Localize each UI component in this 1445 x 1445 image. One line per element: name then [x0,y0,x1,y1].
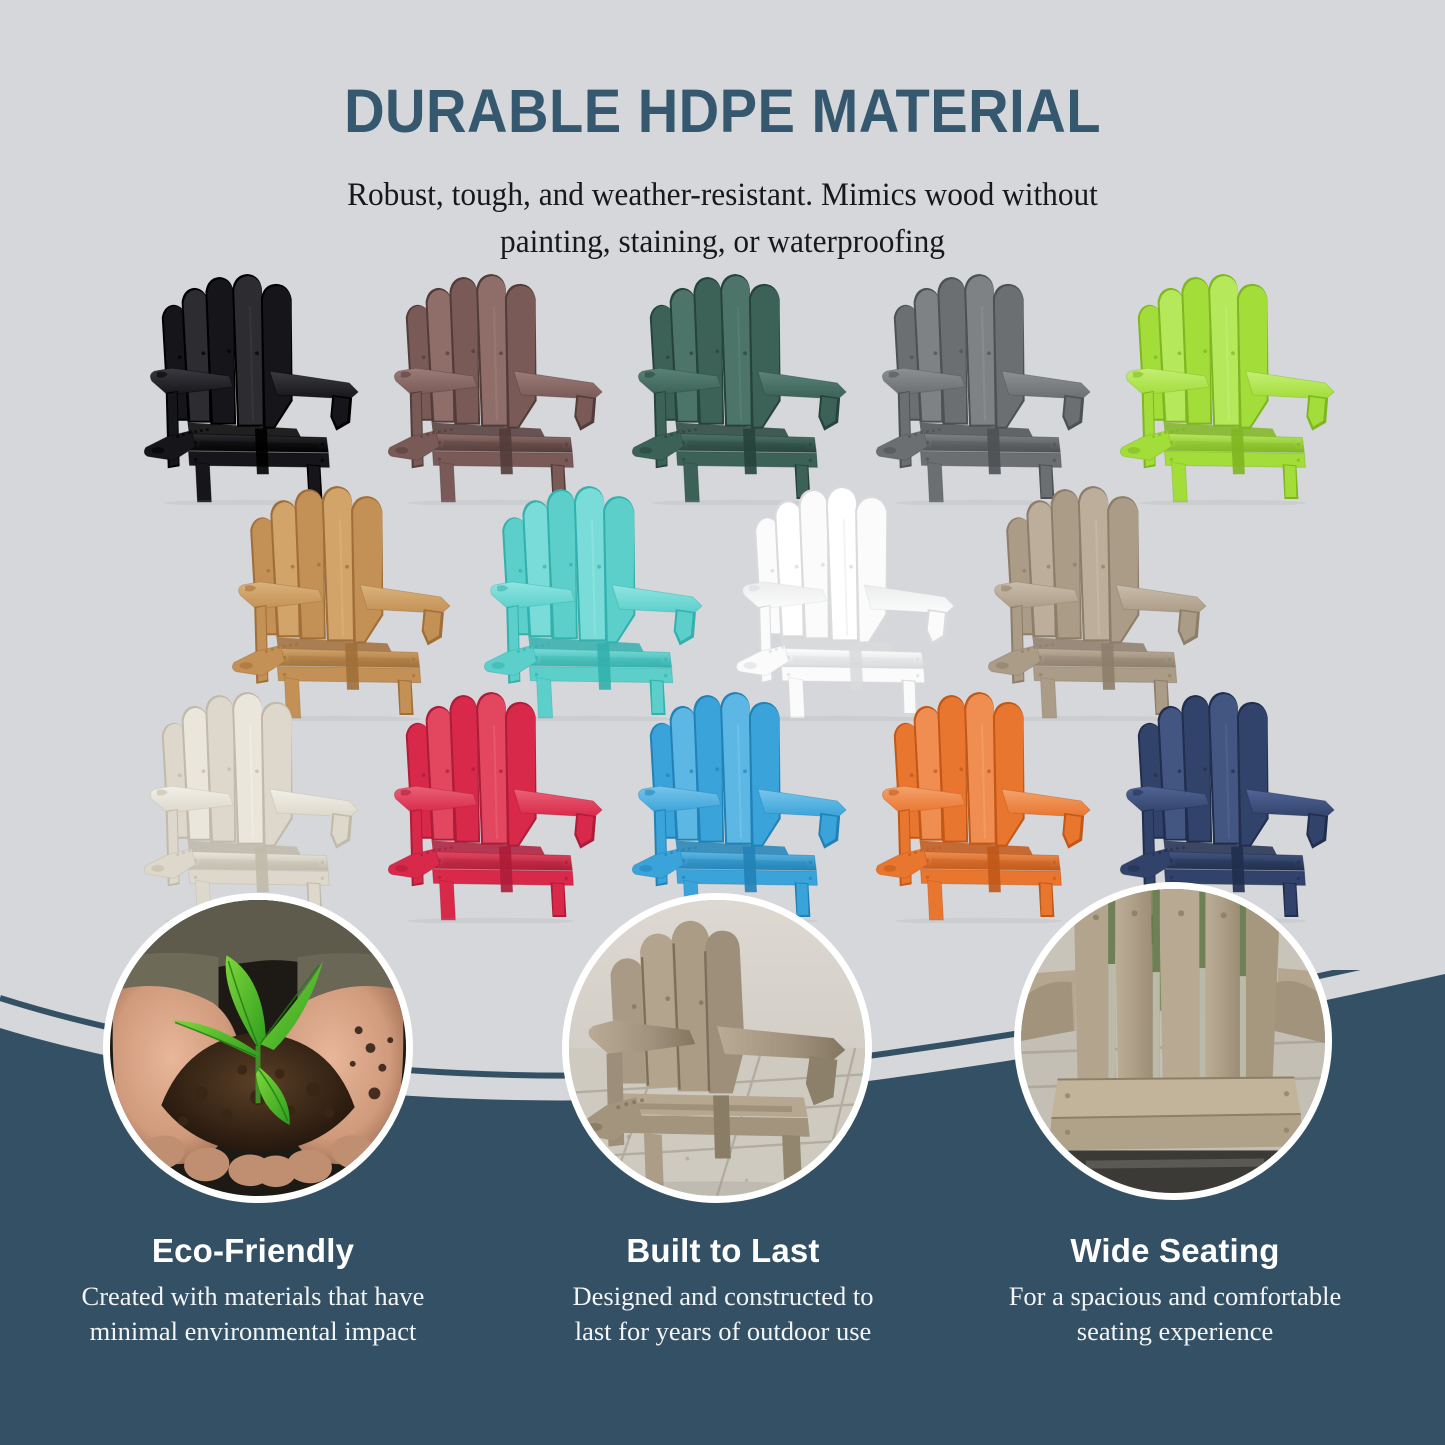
feature-desc-line-1: For a spacious and comfortable [940,1279,1410,1314]
feature-description: For a spacious and comfortable seating e… [940,1279,1410,1349]
feature-desc-line-2: last for years of outdoor use [488,1314,958,1349]
patio-chair-photo-illustration [569,900,865,1196]
chair-black [138,272,366,505]
seedling-in-hands-illustration [110,900,406,1196]
chair-swatch-black[interactable] [138,272,366,505]
chair-swatch-turquoise[interactable] [478,484,710,721]
chair-swatch-teak[interactable] [226,484,458,721]
chair-swatch-red[interactable] [382,690,610,923]
feature-description: Designed and constructed to last for yea… [488,1279,958,1349]
chair-back [250,486,383,643]
feature-description: Created with materials that have minimal… [18,1279,488,1349]
feature-title: Built to Last [488,1232,958,1270]
chair-swatch-dark-green[interactable] [626,272,854,505]
chair-lime-green [1114,272,1342,505]
feature-desc-line-1: Designed and constructed to [488,1279,958,1314]
chair-weathered-wood [982,484,1214,721]
chair-brown [382,272,610,505]
feature-built-to-last: Built to Last Designed and constructed t… [488,1232,958,1349]
feature-wide-seating: Wide Seating For a spacious and comforta… [940,1232,1410,1349]
chair-swatch-gray[interactable] [870,272,1098,505]
chair-swatch-brown[interactable] [382,272,610,505]
feature-desc-line-1: Created with materials that have [18,1279,488,1314]
chair-red [382,690,610,923]
chair-back [502,486,635,643]
chair-back [894,692,1025,847]
chair-back [650,274,781,429]
chair-blue [626,690,854,923]
feature-desc-line-2: minimal environmental impact [18,1314,488,1349]
chair-row-2 [226,484,1445,721]
feature-title: Wide Seating [940,1232,1410,1270]
eco-friendly-photo [103,893,413,1203]
chair-back [406,692,537,847]
chair-back [1138,692,1269,847]
page-title: DURABLE HDPE MATERIAL [58,76,1387,146]
chair-swatch-lime-green[interactable] [1114,272,1342,505]
wide-seating-photo [1014,882,1332,1200]
chair-orange [870,690,1098,923]
chair-back [650,692,781,847]
chair-turquoise [478,484,710,721]
chair-back [754,486,887,643]
chair-back [162,692,293,847]
chair-gray [870,272,1098,505]
chair-back [406,274,537,429]
chair-back [1006,486,1139,643]
chair-swatch-white[interactable] [730,484,962,721]
feature-eco-friendly: Eco-Friendly Created with materials that… [18,1232,488,1349]
chair-dark-green [626,272,854,505]
subtitle-line-2: painting, staining, or waterproofing [36,219,1409,266]
feature-desc-line-2: seating experience [940,1314,1410,1349]
chair-back [894,274,1025,429]
chair-row-1 [138,272,1368,505]
chair-back [162,274,293,429]
feature-title: Eco-Friendly [18,1232,488,1270]
chair-back [1138,274,1269,429]
chair-white [730,484,962,721]
page-subtitle: Robust, tough, and weather-resistant. Mi… [36,172,1409,266]
chair-swatch-ivory[interactable] [138,690,366,923]
built-to-last-photo [562,893,872,1203]
chair-swatch-blue[interactable] [626,690,854,923]
chair-swatch-weathered-wood[interactable] [982,484,1214,721]
chair-ivory [138,690,366,923]
chair-teak [226,484,458,721]
subtitle-line-1: Robust, tough, and weather-resistant. Mi… [36,172,1409,219]
wide-seat-closeup-illustration [1021,889,1325,1193]
chair-swatch-orange[interactable] [870,690,1098,923]
